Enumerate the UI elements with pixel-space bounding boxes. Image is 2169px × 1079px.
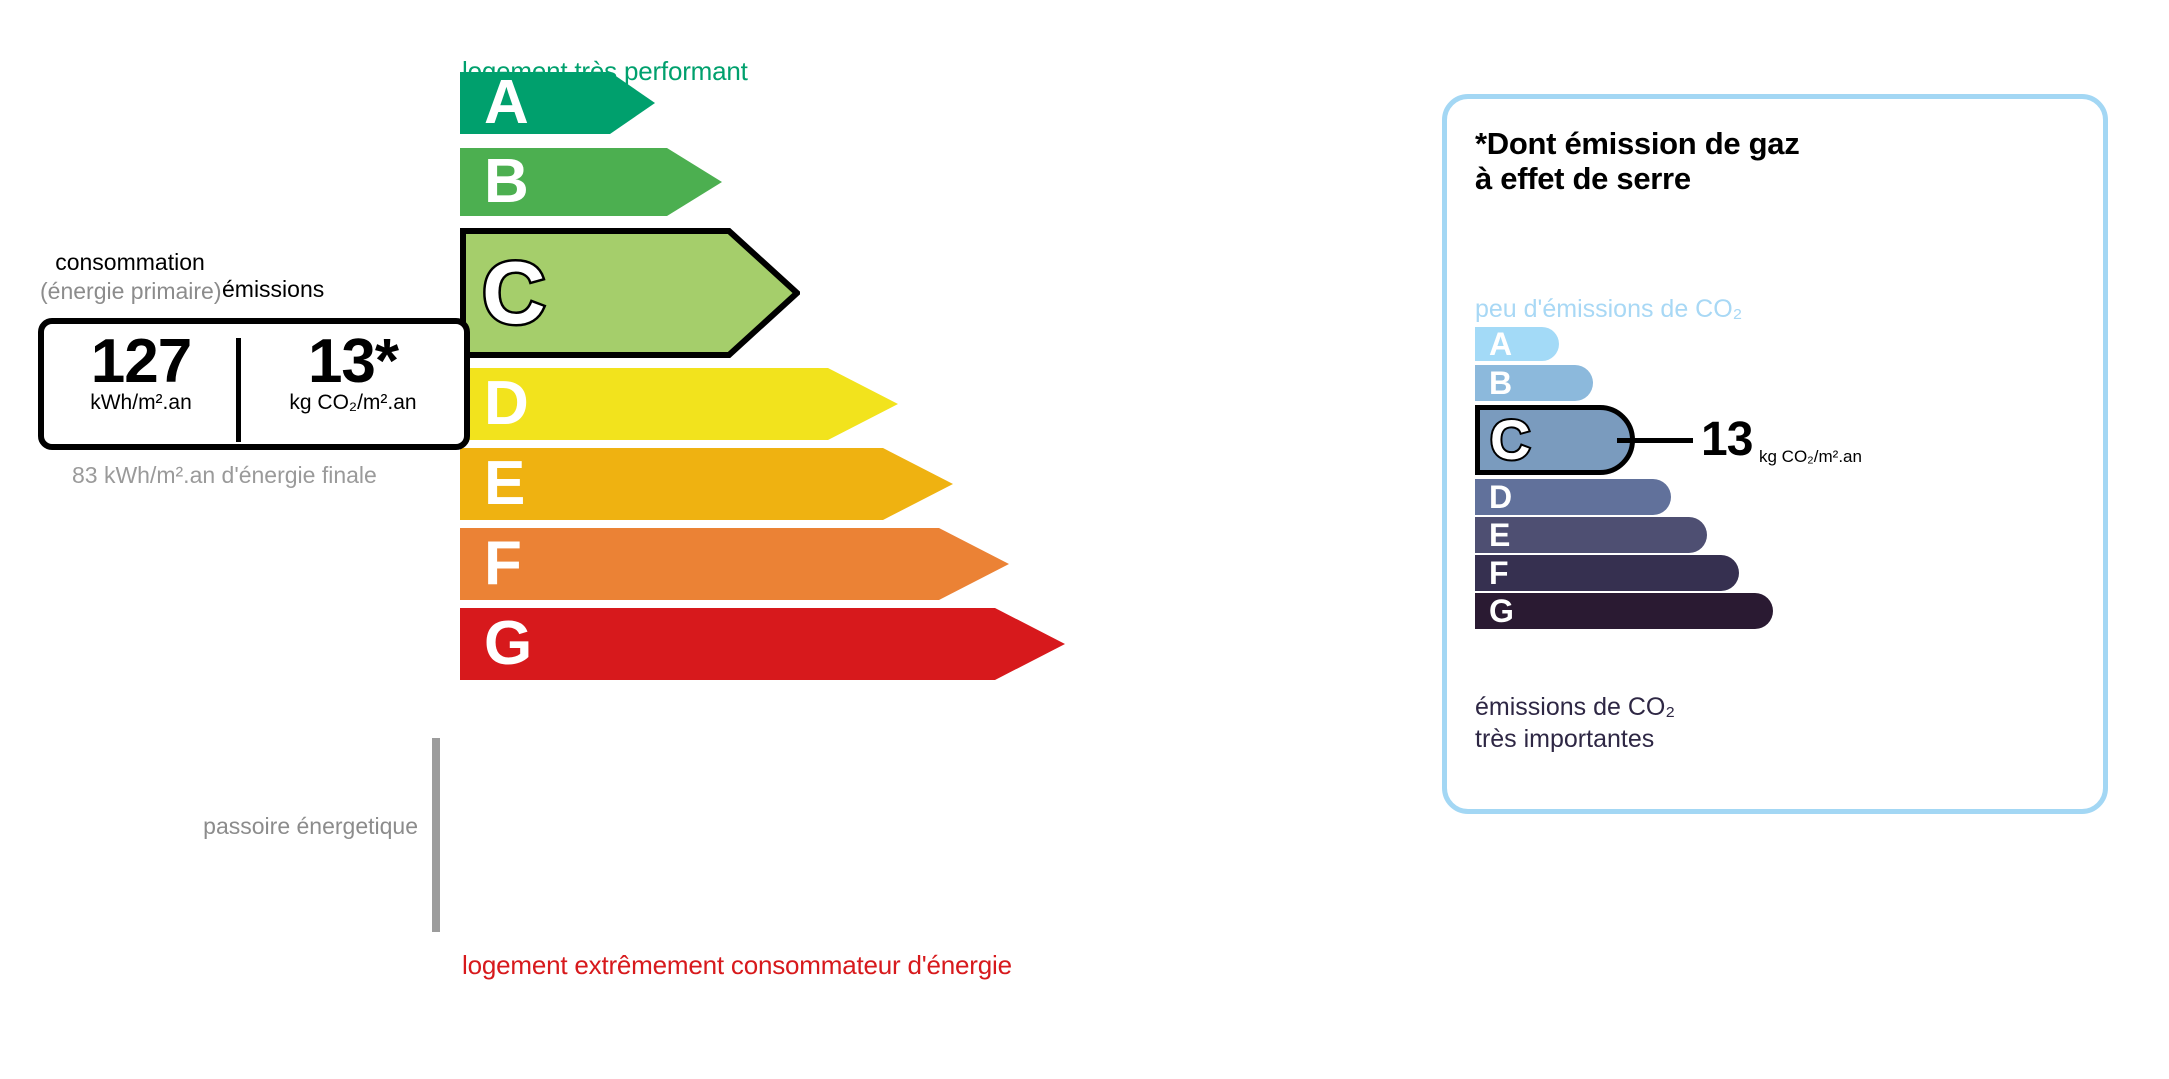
energy-band-letter-a: A	[484, 72, 529, 134]
passoire-label: passoire énergetique	[200, 812, 418, 842]
co2-bar-letter-a: A	[1489, 328, 1512, 360]
energy-band-letter-d: D	[484, 373, 529, 435]
consumption-header: consommation (énergie primaire)	[40, 248, 220, 306]
emissions-value: 13*	[244, 330, 462, 393]
co2-bar-letter-b: B	[1489, 367, 1512, 399]
energy-band-shape-g	[460, 608, 1065, 680]
co2-bar-d: D	[1475, 479, 1671, 515]
energy-band-shape-f	[460, 528, 1009, 600]
co2-panel: *Dont émission de gaz à effet de serre p…	[1442, 94, 2108, 814]
energy-band-letter-c: C	[482, 249, 546, 337]
energy-band-letter-b: B	[484, 151, 529, 213]
final-energy-note: 83 kWh/m².an d'énergie finale	[72, 460, 377, 491]
energy-band-f: F	[460, 528, 1009, 600]
energy-band-g: G	[460, 608, 1065, 680]
dpe-energy-chart: logement très performant ABCDEFG consomm…	[0, 0, 1400, 1079]
energy-band-c: C	[460, 228, 800, 358]
energy-band-d: D	[460, 368, 898, 440]
co2-bar-a: A	[1475, 327, 1559, 361]
consumption-unit: kWh/m².an	[48, 391, 234, 414]
co2-bar-letter-e: E	[1489, 519, 1510, 551]
emissions-header: émissions	[222, 276, 394, 303]
co2-bar-e: E	[1475, 517, 1707, 553]
co2-bar-c: C	[1475, 405, 1635, 475]
emissions-value-cell: 13* kg CO₂/m².an	[244, 330, 462, 414]
co2-bar-letter-f: F	[1489, 557, 1509, 589]
energy-band-a: A	[460, 72, 655, 134]
value-box: 127 kWh/m².an 13* kg CO₂/m².an	[38, 318, 470, 450]
co2-panel-title: *Dont émission de gaz à effet de serre	[1475, 127, 1799, 196]
co2-bottom-caption: émissions de CO₂ très importantes	[1475, 691, 1675, 755]
co2-top-caption: peu d'émissions de CO₂	[1475, 295, 1742, 324]
energy-band-letter-f: F	[484, 533, 522, 595]
co2-bar-letter-d: D	[1489, 481, 1512, 513]
co2-bar-b: B	[1475, 365, 1593, 401]
energy-band-letter-g: G	[484, 613, 532, 675]
energy-band-shape-e	[460, 448, 953, 520]
consumption-value-cell: 127 kWh/m².an	[48, 330, 234, 414]
passoire-bracket	[432, 738, 440, 932]
co2-bar-f: F	[1475, 555, 1739, 591]
consumption-header-sub: (énergie primaire)	[40, 277, 220, 306]
emissions-unit: kg CO₂/m².an	[244, 391, 462, 414]
value-box-divider	[236, 338, 241, 442]
energy-bottom-caption: logement extrêmement consommateur d'éner…	[462, 950, 1012, 981]
co2-value: 13	[1701, 416, 1752, 464]
energy-band-b: B	[460, 148, 722, 216]
co2-bar-letter-c: C	[1490, 412, 1530, 468]
consumption-value: 127	[48, 330, 234, 393]
co2-bar-letter-g: G	[1489, 595, 1514, 627]
co2-value-unit: kg CO₂/m².an	[1759, 448, 1862, 465]
energy-band-e: E	[460, 448, 953, 520]
co2-leader-line	[1617, 438, 1693, 443]
consumption-header-main: consommation	[55, 249, 205, 275]
energy-band-letter-e: E	[484, 453, 525, 515]
co2-bar-g: G	[1475, 593, 1773, 629]
